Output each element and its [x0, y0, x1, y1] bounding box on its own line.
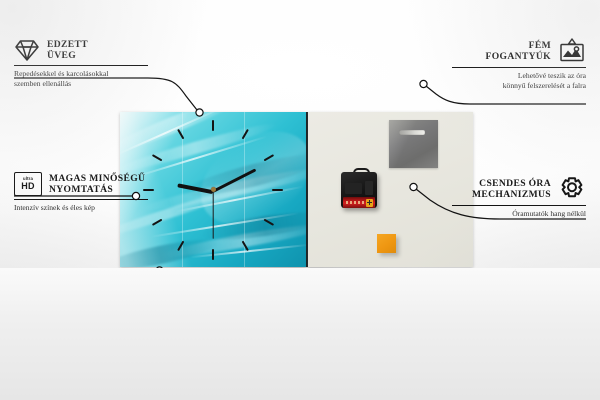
clock-hour-hand	[177, 183, 213, 194]
infographic-stage: EDZETT ÜVEG Repedésekkel és karcolásokka…	[0, 0, 600, 400]
clock-tick	[152, 154, 163, 161]
ultra-hd-large-text: HD	[21, 182, 34, 191]
polished-edges-icon	[14, 278, 40, 302]
foam-pad-icon	[558, 278, 586, 304]
feature-description: Óramutatók hang nélkül	[452, 209, 586, 219]
feature-description: Repedésekkel és karcolásokkal szemben el…	[14, 69, 148, 88]
mechanism-ridge	[345, 183, 362, 194]
feature-description: Intenzív színek és éles kép	[14, 203, 148, 213]
clock-mechanism	[341, 168, 377, 208]
clock-tick	[242, 128, 249, 139]
clock-minute-hand	[212, 168, 256, 193]
picture-hanger-icon	[558, 38, 586, 64]
divider	[452, 67, 586, 68]
divider	[442, 307, 586, 308]
feature-title: EDZETT ÜVEG	[47, 39, 88, 62]
feature-description: Lehetővé teszi az óra egyenletes távolsá…	[442, 311, 586, 330]
feature-description: Lehetővé teszik az óra könnyű felszerelé…	[452, 71, 586, 90]
feature-title: FÉM FOGANTYÚK	[485, 40, 551, 63]
clock-tick	[177, 128, 184, 139]
diamond-icon	[14, 38, 40, 62]
clock-second-hand	[212, 190, 213, 238]
product-image	[120, 112, 473, 270]
divider	[14, 199, 148, 200]
feature-metal-handles[interactable]: FÉM FOGANTYÚK Lehetővé teszik az óra kön…	[452, 38, 586, 90]
metal-hanger	[389, 120, 438, 168]
gear-icon	[558, 176, 586, 202]
feature-title: MAGAS MINŐSÉGŰ NYOMTATÁS	[49, 173, 145, 196]
feature-tempered-glass[interactable]: EDZETT ÜVEG Repedésekkel és karcolásokka…	[14, 38, 148, 88]
feature-foam-pad[interactable]: HABSZIVACS ALÁTÉT Lehetővé teszi az óra …	[442, 278, 586, 330]
clock-tick	[152, 218, 163, 225]
mechanism-ridge-secondary	[365, 181, 373, 195]
foam-pad	[377, 234, 396, 253]
ultra-hd-icon: ultra HD	[14, 172, 42, 196]
clock-tick	[242, 240, 249, 251]
feature-polished-edges[interactable]: CSISZOLT ÉLEK Sima és biztonságos felüle…	[14, 278, 148, 319]
feature-description: Sima és biztonságos felület	[14, 309, 148, 319]
clock-tick	[264, 154, 275, 161]
divider	[452, 205, 586, 206]
feature-title: CSENDES ÓRA MECHANIZMUS	[472, 178, 551, 201]
clock-center-cap	[211, 187, 216, 192]
hanger-shine	[389, 120, 438, 168]
clock-back-panel	[308, 112, 473, 267]
clock-tick	[212, 120, 214, 131]
divider	[14, 65, 148, 66]
feature-high-quality-print[interactable]: ultra HD MAGAS MINŐSÉGŰ NYOMTATÁS Intenz…	[14, 172, 148, 213]
clock-tick	[177, 240, 184, 251]
feature-silent-mechanism[interactable]: CSENDES ÓRA MECHANIZMUS Óramutatók hang …	[452, 176, 586, 219]
clock-tick	[212, 249, 214, 260]
divider	[14, 305, 148, 306]
battery-label	[346, 201, 366, 204]
feature-title: CSISZOLT ÉLEK	[47, 279, 97, 302]
mechanism-body	[341, 172, 377, 208]
battery-plus-terminal	[366, 199, 373, 207]
battery	[343, 197, 375, 208]
clock-tick	[264, 218, 275, 225]
clock-tick	[272, 189, 283, 191]
feature-title: HABSZIVACS ALÁTÉT	[486, 280, 551, 303]
